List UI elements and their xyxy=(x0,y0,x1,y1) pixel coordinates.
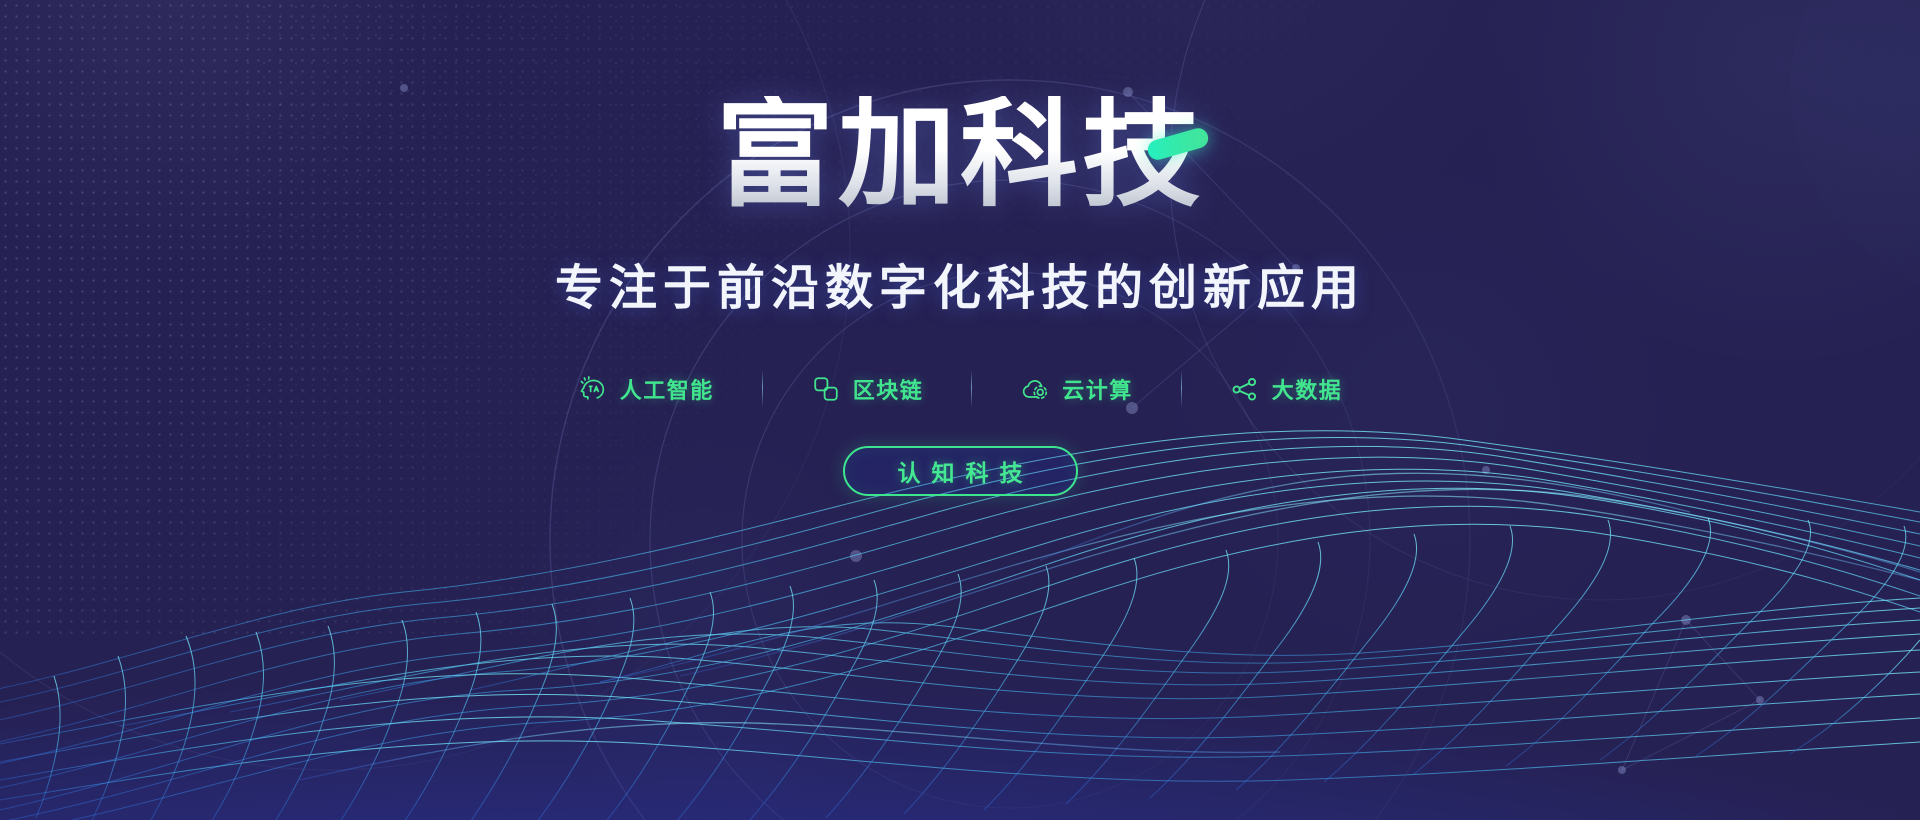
feature-item-ai[interactable]: 人工智能 xyxy=(530,373,762,405)
brand-logo: 富加科技 xyxy=(716,96,1204,214)
share-network-icon xyxy=(1230,374,1260,404)
hero-banner: 富加科技 专注于前沿数字化科技的创新应用 人工智能 xyxy=(0,0,1920,820)
feature-label: 人工智能 xyxy=(620,373,714,405)
feature-label: 大数据 xyxy=(1272,373,1343,405)
feature-label: 云计算 xyxy=(1062,373,1133,405)
brand-logo-text: 富加科技 xyxy=(716,89,1204,221)
hero-content: 富加科技 专注于前沿数字化科技的创新应用 人工智能 xyxy=(0,0,1920,820)
hero-subtitle: 专注于前沿数字化科技的创新应用 xyxy=(555,248,1365,318)
feature-label: 区块链 xyxy=(853,373,924,405)
feature-item-cloud[interactable]: 云计算 xyxy=(972,373,1181,405)
feature-item-blockchain[interactable]: 区块链 xyxy=(763,373,972,405)
cloud-gear-icon xyxy=(1020,374,1050,404)
cta-button[interactable]: 认知科技 xyxy=(843,446,1078,496)
blockchain-icon xyxy=(811,374,841,404)
ai-brain-icon xyxy=(578,374,608,404)
feature-list: 人工智能 区块链 xyxy=(530,370,1391,408)
feature-item-bigdata[interactable]: 大数据 xyxy=(1182,373,1391,405)
